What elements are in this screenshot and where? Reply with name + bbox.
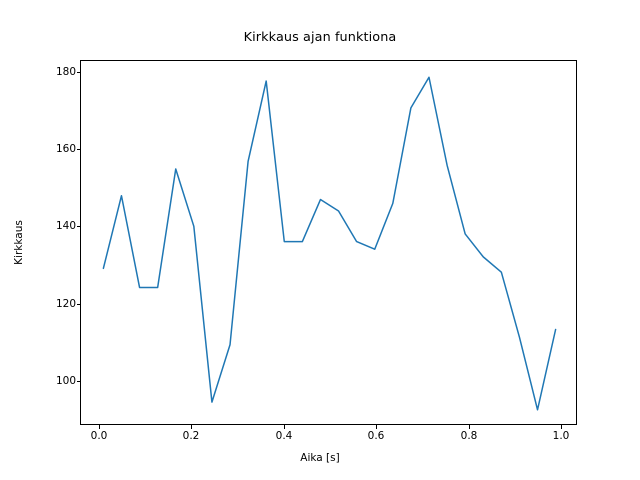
ytick-label-3: 160 [56, 143, 76, 155]
ytick-label-0: 100 [56, 375, 76, 387]
xtick-mark-2 [284, 425, 285, 429]
plot-area [80, 60, 577, 425]
ytick-mark-0 [77, 381, 81, 382]
xtick-mark-0 [99, 425, 100, 429]
xtick-mark-3 [376, 425, 377, 429]
xtick-label-1: 0.2 [183, 430, 200, 442]
ytick-mark-4 [77, 72, 81, 73]
xtick-label-3: 0.6 [368, 430, 385, 442]
ytick-mark-3 [77, 149, 81, 150]
ytick-label-2: 140 [56, 220, 76, 232]
data-line-series [81, 61, 578, 426]
y-axis-label: Kirkkaus [11, 60, 27, 425]
matplotlib-figure: Kirkkaus ajan funktiona 0.0 0.2 0.4 0.6 … [0, 0, 640, 480]
ytick-mark-1 [77, 304, 81, 305]
xtick-mark-1 [191, 425, 192, 429]
x-axis-label: Aika [s] [0, 452, 640, 464]
series-kirkkaus-polyline [103, 77, 555, 410]
xtick-label-4: 0.8 [461, 430, 478, 442]
xtick-label-5: 1.0 [553, 430, 570, 442]
xtick-mark-5 [561, 425, 562, 429]
xtick-mark-4 [469, 425, 470, 429]
ytick-label-4: 180 [56, 66, 76, 78]
ytick-label-1: 120 [56, 298, 76, 310]
ytick-mark-2 [77, 226, 81, 227]
xtick-label-2: 0.4 [276, 430, 293, 442]
chart-title: Kirkkaus ajan funktiona [0, 30, 640, 45]
xtick-label-0: 0.0 [91, 430, 108, 442]
